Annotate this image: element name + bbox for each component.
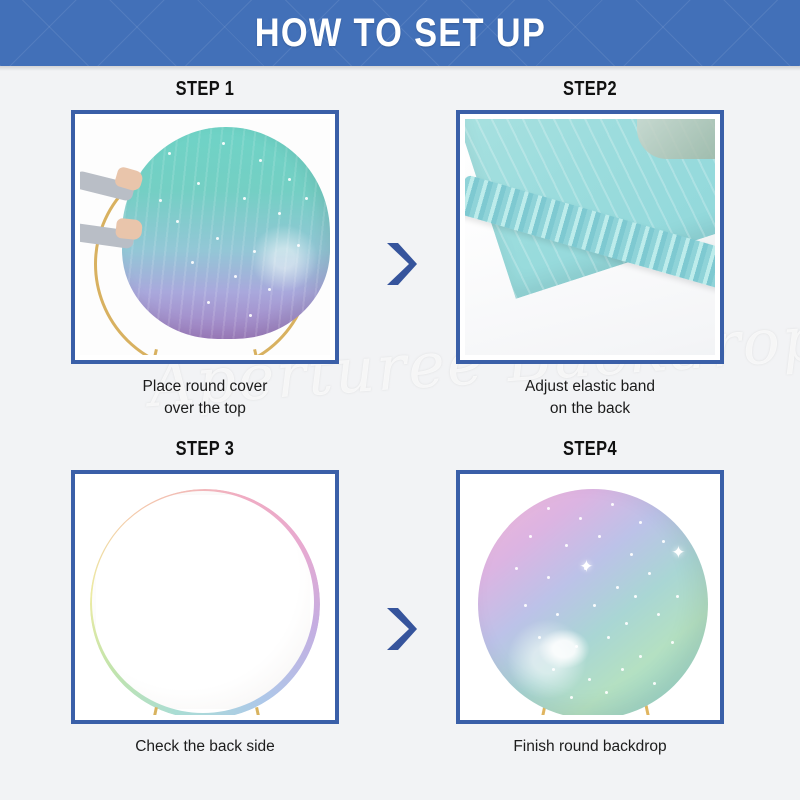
steps-grid: STEP 1 [0, 66, 800, 800]
next-step-arrow-bottom [383, 606, 417, 652]
light-halo [538, 629, 590, 669]
step-caption-3: Check the back side [40, 736, 370, 758]
step-title-3: STEP 3 [70, 438, 341, 461]
step-caption-4: Finish round backdrop [425, 736, 755, 758]
step-title-4: STEP4 [455, 438, 726, 461]
person-hand-lower [115, 218, 143, 241]
step-title-2: STEP2 [455, 78, 726, 101]
step-caption-1: Place round cover over the top [40, 376, 370, 420]
star-print-dots [122, 127, 330, 339]
step-photo-4: ✦ ✦ [465, 479, 715, 715]
next-step-arrow-top [383, 241, 417, 287]
step-photo-frame-2 [456, 110, 724, 364]
gradient-cover-fabric [122, 127, 330, 339]
step-photo-frame-1 [71, 110, 339, 364]
sparkle-icon: ✦ [579, 558, 593, 575]
step-photo-frame-4: ✦ ✦ [456, 470, 724, 724]
step-title-1: STEP 1 [70, 78, 341, 101]
step-caption-2: Adjust elastic band on the back [425, 376, 755, 420]
backdrop-back-disc [92, 491, 314, 713]
sparkle-icon: ✦ [671, 544, 685, 561]
how-to-set-up-infographic: HOW TO SET UP Aperturee Backdrop STEP 1 [0, 0, 800, 800]
step-photo-1 [80, 119, 330, 355]
step-panel-1: STEP 1 [40, 78, 370, 420]
finished-backdrop-disc: ✦ ✦ [478, 489, 708, 715]
step-photo-2 [465, 119, 715, 355]
background-corner [637, 119, 715, 159]
step-panel-2: STEP2 Adjust elastic band on the back [425, 78, 755, 420]
step-photo-3 [80, 479, 330, 715]
star-dots: ✦ ✦ [478, 489, 708, 715]
header-banner: HOW TO SET UP [0, 0, 800, 66]
step-panel-3: STEP 3 Check the back side [40, 438, 370, 758]
step-photo-frame-3 [71, 470, 339, 724]
step-panel-4: STEP4 [425, 438, 755, 758]
page-title: HOW TO SET UP [254, 11, 545, 56]
